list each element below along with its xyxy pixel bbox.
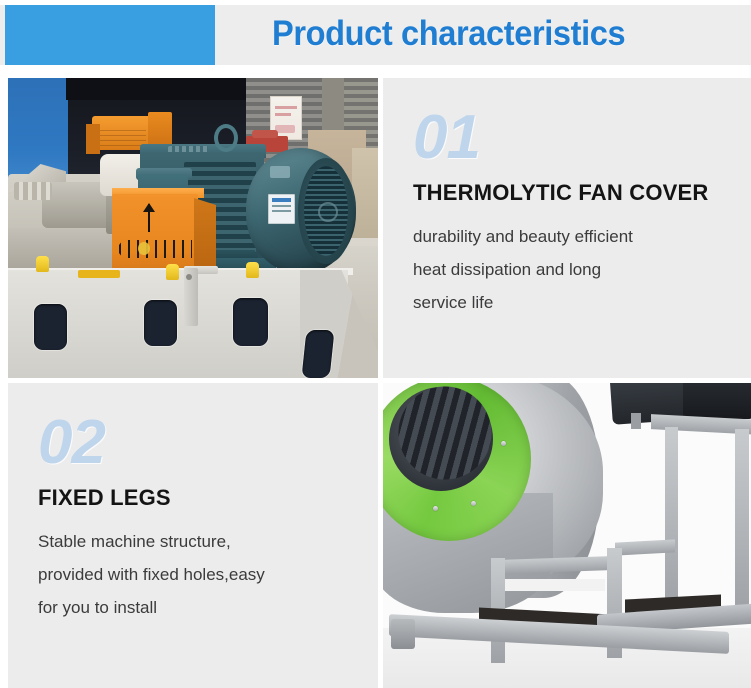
mounting-bracket <box>184 268 198 326</box>
base-cutout <box>301 330 334 378</box>
page-title: Product characteristics <box>272 5 625 65</box>
feature-image-01 <box>8 78 378 378</box>
base-cutout <box>34 304 67 350</box>
red-crate-lid <box>252 130 278 138</box>
feature-description-line: durability and beauty efficient <box>413 220 737 253</box>
feature-number-01: 01 <box>413 106 737 170</box>
inlet-ring-screw <box>433 506 438 511</box>
feature-grid: 01 THERMOLYTIC FAN COVER durability and … <box>0 78 751 688</box>
feature-text-02: 02 FIXED LEGS Stable machine structure, … <box>8 383 378 688</box>
orange-coupling-guard <box>112 194 198 276</box>
pump-bolt-row <box>14 182 52 200</box>
product-characteristics-page: Product characteristics <box>0 0 751 688</box>
warning-chevron-stripes <box>116 240 192 258</box>
yellow-bolt-cap <box>166 264 179 280</box>
feature-panel-01-inner: 01 THERMOLYTIC FAN COVER durability and … <box>413 106 737 319</box>
section-header-bar: Product characteristics <box>0 5 751 65</box>
blower-motor-rear <box>683 383 751 419</box>
feature-description-line: service life <box>413 286 737 319</box>
feature-number-02: 02 <box>38 411 364 475</box>
frame-leg <box>735 429 749 613</box>
orange-duct-ribs <box>98 126 146 146</box>
header-accent-block <box>5 5 215 65</box>
lifting-eye-bolt-icon <box>214 124 238 152</box>
base-cutout <box>233 298 268 346</box>
inlet-ring-screw <box>501 441 506 446</box>
feature-description-line: for you to install <box>38 591 364 624</box>
pump-base <box>8 228 128 270</box>
feature-panel-02: 02 FIXED LEGS Stable machine structure, … <box>8 383 378 688</box>
feature-description-line: heat dissipation and long <box>413 253 737 286</box>
feature-title-02: FIXED LEGS <box>38 485 364 511</box>
yellow-bolt-cap <box>246 262 259 278</box>
frame-base-corner <box>391 619 415 649</box>
rotation-arrow-icon <box>148 204 150 232</box>
feature-image-02 <box>383 383 751 688</box>
feature-description-line: provided with fixed holes,easy <box>38 558 364 591</box>
feature-text-01: 01 THERMOLYTIC FAN COVER durability and … <box>383 78 751 378</box>
warning-chevron-highlight <box>138 242 150 255</box>
motor-brand-mark <box>270 166 290 178</box>
feature-panel-02-inner: 02 FIXED LEGS Stable machine structure, … <box>38 411 364 624</box>
inlet-ring-screw <box>471 501 476 506</box>
frame-background-gap <box>505 579 605 591</box>
blower-motor-shaft <box>631 413 641 429</box>
motor-photo <box>8 78 378 378</box>
feature-description-line: Stable machine structure, <box>38 525 364 558</box>
fan-cover-center-logo-icon <box>318 202 338 222</box>
motor-rating-label <box>268 194 295 224</box>
yellow-bolt-cap <box>36 256 49 272</box>
feature-description-02: Stable machine structure, provided with … <box>38 525 364 624</box>
orange-guard-side <box>194 198 216 276</box>
impeller-blades <box>395 383 495 485</box>
orange-duct-left <box>86 124 100 154</box>
feature-panel-01: 01 THERMOLYTIC FAN COVER durability and … <box>383 78 751 378</box>
base-cutout <box>144 300 177 346</box>
feature-description-01: durability and beauty efficient heat dis… <box>413 220 737 319</box>
frame-leg <box>665 427 678 611</box>
blower-photo <box>383 383 751 688</box>
curtain-rail <box>66 78 250 100</box>
feature-title-01: THERMOLYTIC FAN COVER <box>413 180 737 206</box>
yellow-marker-bar <box>78 270 120 278</box>
